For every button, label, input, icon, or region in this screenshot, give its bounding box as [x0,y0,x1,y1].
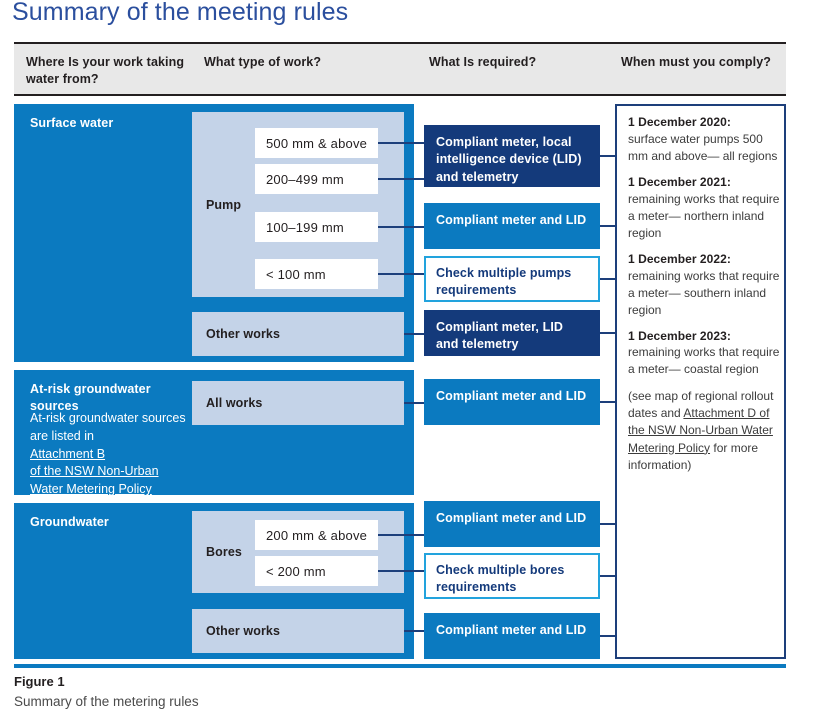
comply-list: 1 December 2020: surface water pumps 500… [628,114,780,474]
sizebox-bores-200mm[interactable]: 200 mm & above [255,520,378,550]
connector-req6-comply [600,523,616,525]
link-attachment-b[interactable]: Attachment B [30,446,202,464]
table-header-band: Where Is your work taking water from? Wh… [14,42,786,96]
figure-caption: Summary of the metering rules [14,694,199,709]
section-title-groundwater: Groundwater [30,514,200,531]
connector-req3-comply [600,278,616,280]
connector-req8-comply [600,635,616,637]
page-title: Summary of the meeting rules [12,0,348,27]
comply-text-2022: remaining works that require a meter— so… [628,268,780,319]
footer-divider [14,664,786,668]
workgroup-label-all-works: All works [206,396,262,410]
requirement-box-7[interactable]: Check multiple bores requirements [424,553,600,599]
requirement-box-2[interactable]: Compliant meter and LID [424,203,600,249]
comply-item-2020: 1 December 2020: surface water pumps 500… [628,114,780,165]
connector-bores-under-200mm [378,570,424,572]
workgroup-surface-other-works: Other works [192,312,404,356]
comply-item-2022: 1 December 2022: remaining works that re… [628,251,780,319]
connector-surface-other-works [404,333,424,335]
comply-date-2022: 1 December 2022: [628,251,780,268]
workgroup-groundwater-other-works: Other works [192,609,404,653]
comply-text-2020: surface water pumps 500 mm and above— al… [628,131,780,165]
connector-groundwater-other-works [404,630,424,632]
section-body-at-risk: At-risk groundwater sources are listed i… [30,410,202,499]
requirement-box-8[interactable]: Compliant meter and LID [424,613,600,659]
figure-label: Figure 1 [14,674,65,689]
connector-500mm [378,142,424,144]
connector-req7-comply [600,575,616,577]
sizebox-surface-500mm[interactable]: 500 mm & above [255,128,378,158]
requirement-box-1[interactable]: Compliant meter, local intelligence devi… [424,125,600,187]
connector-all-works [404,402,424,404]
sizebox-bores-under-200mm[interactable]: < 200 mm [255,556,378,586]
sizebox-surface-under-100mm[interactable]: < 100 mm [255,259,378,289]
workgroup-label-surface-other-works: Other works [206,327,280,341]
workgroup-label-groundwater-other-works: Other works [206,624,280,638]
comply-date-2021: 1 December 2021: [628,174,780,191]
comply-date-2020: 1 December 2020: [628,114,780,131]
requirement-box-3[interactable]: Check multiple pumps requirements [424,256,600,302]
connector-200-499mm [378,178,424,180]
comply-date-2023: 1 December 2023: [628,328,780,345]
connector-req2-comply [600,225,616,227]
column-header-work-type: What type of work? [204,54,414,71]
workgroup-label-pump: Pump [206,198,241,212]
section-title-surface-water: Surface water [30,115,200,132]
column-header-required: What Is required? [429,54,619,71]
comply-note: (see map of regional rollout dates and A… [628,388,780,475]
connector-100-199mm [378,226,424,228]
link-attachment-b-line2[interactable]: of the NSW Non-Urban [30,463,202,481]
comply-panel: 1 December 2020: surface water pumps 500… [615,104,786,659]
column-header-source: Where Is your work taking water from? [26,54,201,88]
comply-text-2021: remaining works that require a meter— no… [628,191,780,242]
workgroup-at-risk-all-works: All works [192,381,404,425]
connector-req1-comply [600,155,616,157]
comply-item-2021: 1 December 2021: remaining works that re… [628,174,780,242]
connector-req4-comply [600,332,616,334]
connector-under-100mm [378,273,424,275]
comply-text-2023: remaining works that require a meter— co… [628,344,780,378]
column-header-comply: When must you comply? [621,54,791,71]
link-attachment-b-line3[interactable]: Water Metering Policy [30,481,202,499]
sizebox-surface-100-199mm[interactable]: 100–199 mm [255,212,378,242]
workgroup-label-bores: Bores [206,545,242,559]
connector-req5-comply [600,401,616,403]
requirement-box-5[interactable]: Compliant meter and LID [424,379,600,425]
requirement-box-6[interactable]: Compliant meter and LID [424,501,600,547]
connector-bores-200mm [378,534,424,536]
comply-item-2023: 1 December 2023: remaining works that re… [628,328,780,379]
requirement-box-4[interactable]: Compliant meter, LID and telemetry [424,310,600,356]
sizebox-surface-200-499mm[interactable]: 200–499 mm [255,164,378,194]
at-risk-body-line-1: At-risk groundwater [30,411,138,425]
